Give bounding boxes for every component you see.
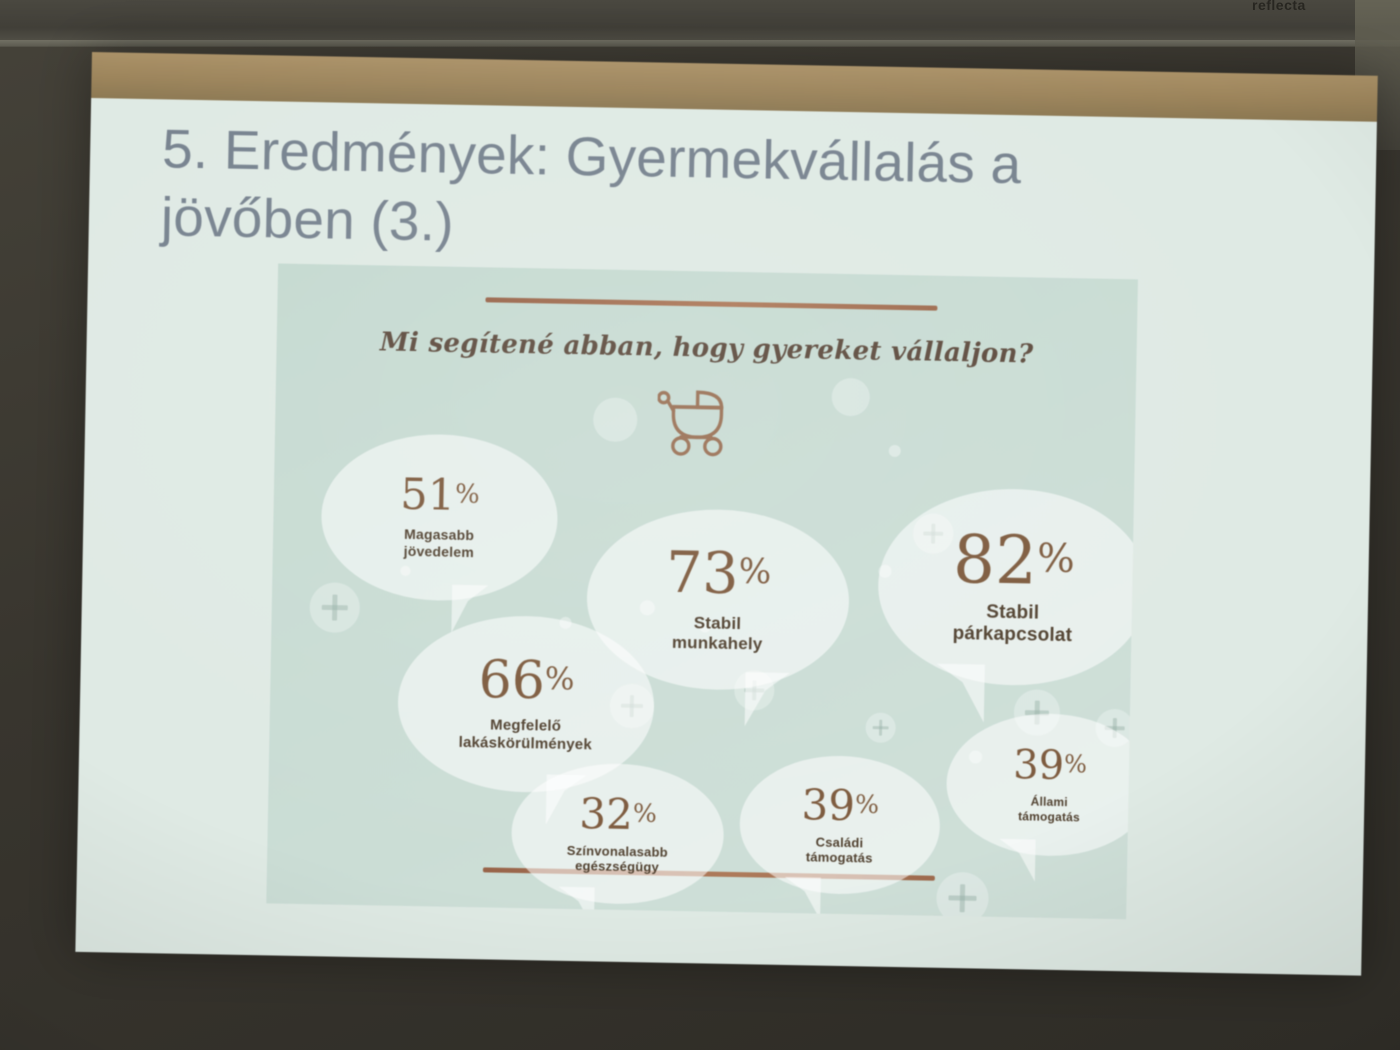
page-title: 5. Eredmények: Gyermekvállalás a jövőben… [160,115,1162,269]
stat-label: Színvonalasabb egészségügy [566,843,668,876]
stat-value: 32% [579,793,657,836]
stat-label: Stabil munkahely [672,613,763,655]
stat-label-line2: jövedelem [404,543,475,561]
stat-label: Megfelelő lakáskörülmények [458,716,592,754]
stat-label-line1: Stabil [672,613,763,635]
stat-label-line2: lakáskörülmények [458,734,592,754]
stat-value: 39% [801,784,879,827]
stat-label-line2: támogatás [1018,809,1080,824]
projection-room-scene: reflecta 5. Eredmények: Gyermekvállalás … [0,0,1400,1050]
casing-lip [0,40,1400,47]
percent-sign: % [1064,750,1087,778]
infographic-panel: Mi segítené abban, hogy gyereket vállalj… [266,263,1138,919]
stat-label-line1: Állami [1018,795,1080,810]
stat-label-line2: párkapcsolat [952,623,1072,648]
percent-sign: % [855,789,879,818]
percent-sign: % [633,798,657,827]
stat-value: 82% [953,527,1075,595]
stat-label-line2: egészségügy [566,858,667,875]
bubble-tail [784,877,821,919]
stat-value: 73% [666,545,772,604]
baby-pram-icon [657,389,750,459]
percent-sign: % [1037,535,1075,582]
stat-label: Magasabb jövedelem [404,526,475,560]
stat-label-line1: Magasabb [404,526,475,544]
stat-label-line2: munkahely [672,633,763,655]
bubble-tail [936,664,985,723]
stat-label-line1: Családi [806,834,873,851]
stat-label: Családi támogatás [806,834,873,866]
bubble-tail [745,672,790,727]
bubble-tail [999,839,1036,882]
stat-value: 39% [1013,746,1087,787]
presentation-slide: 5. Eredmények: Gyermekvállalás a jövőben… [75,52,1377,976]
stat-label-line2: támogatás [806,849,873,866]
percent-sign: % [545,661,575,698]
projected-slide-wrapper: 5. Eredmények: Gyermekvállalás a jövőben… [75,52,1377,976]
screen-brand-label: reflecta [1252,0,1306,13]
stat-label-line1: Stabil [953,601,1073,626]
stat-value: 51% [400,474,480,518]
percent-sign: % [455,480,480,510]
stat-label: Stabil párkapcsolat [952,601,1072,648]
stat-label: Állami támogatás [1018,795,1080,824]
bubble-tail [558,887,595,920]
stat-value: 66% [478,655,574,709]
percent-sign: % [738,552,771,593]
